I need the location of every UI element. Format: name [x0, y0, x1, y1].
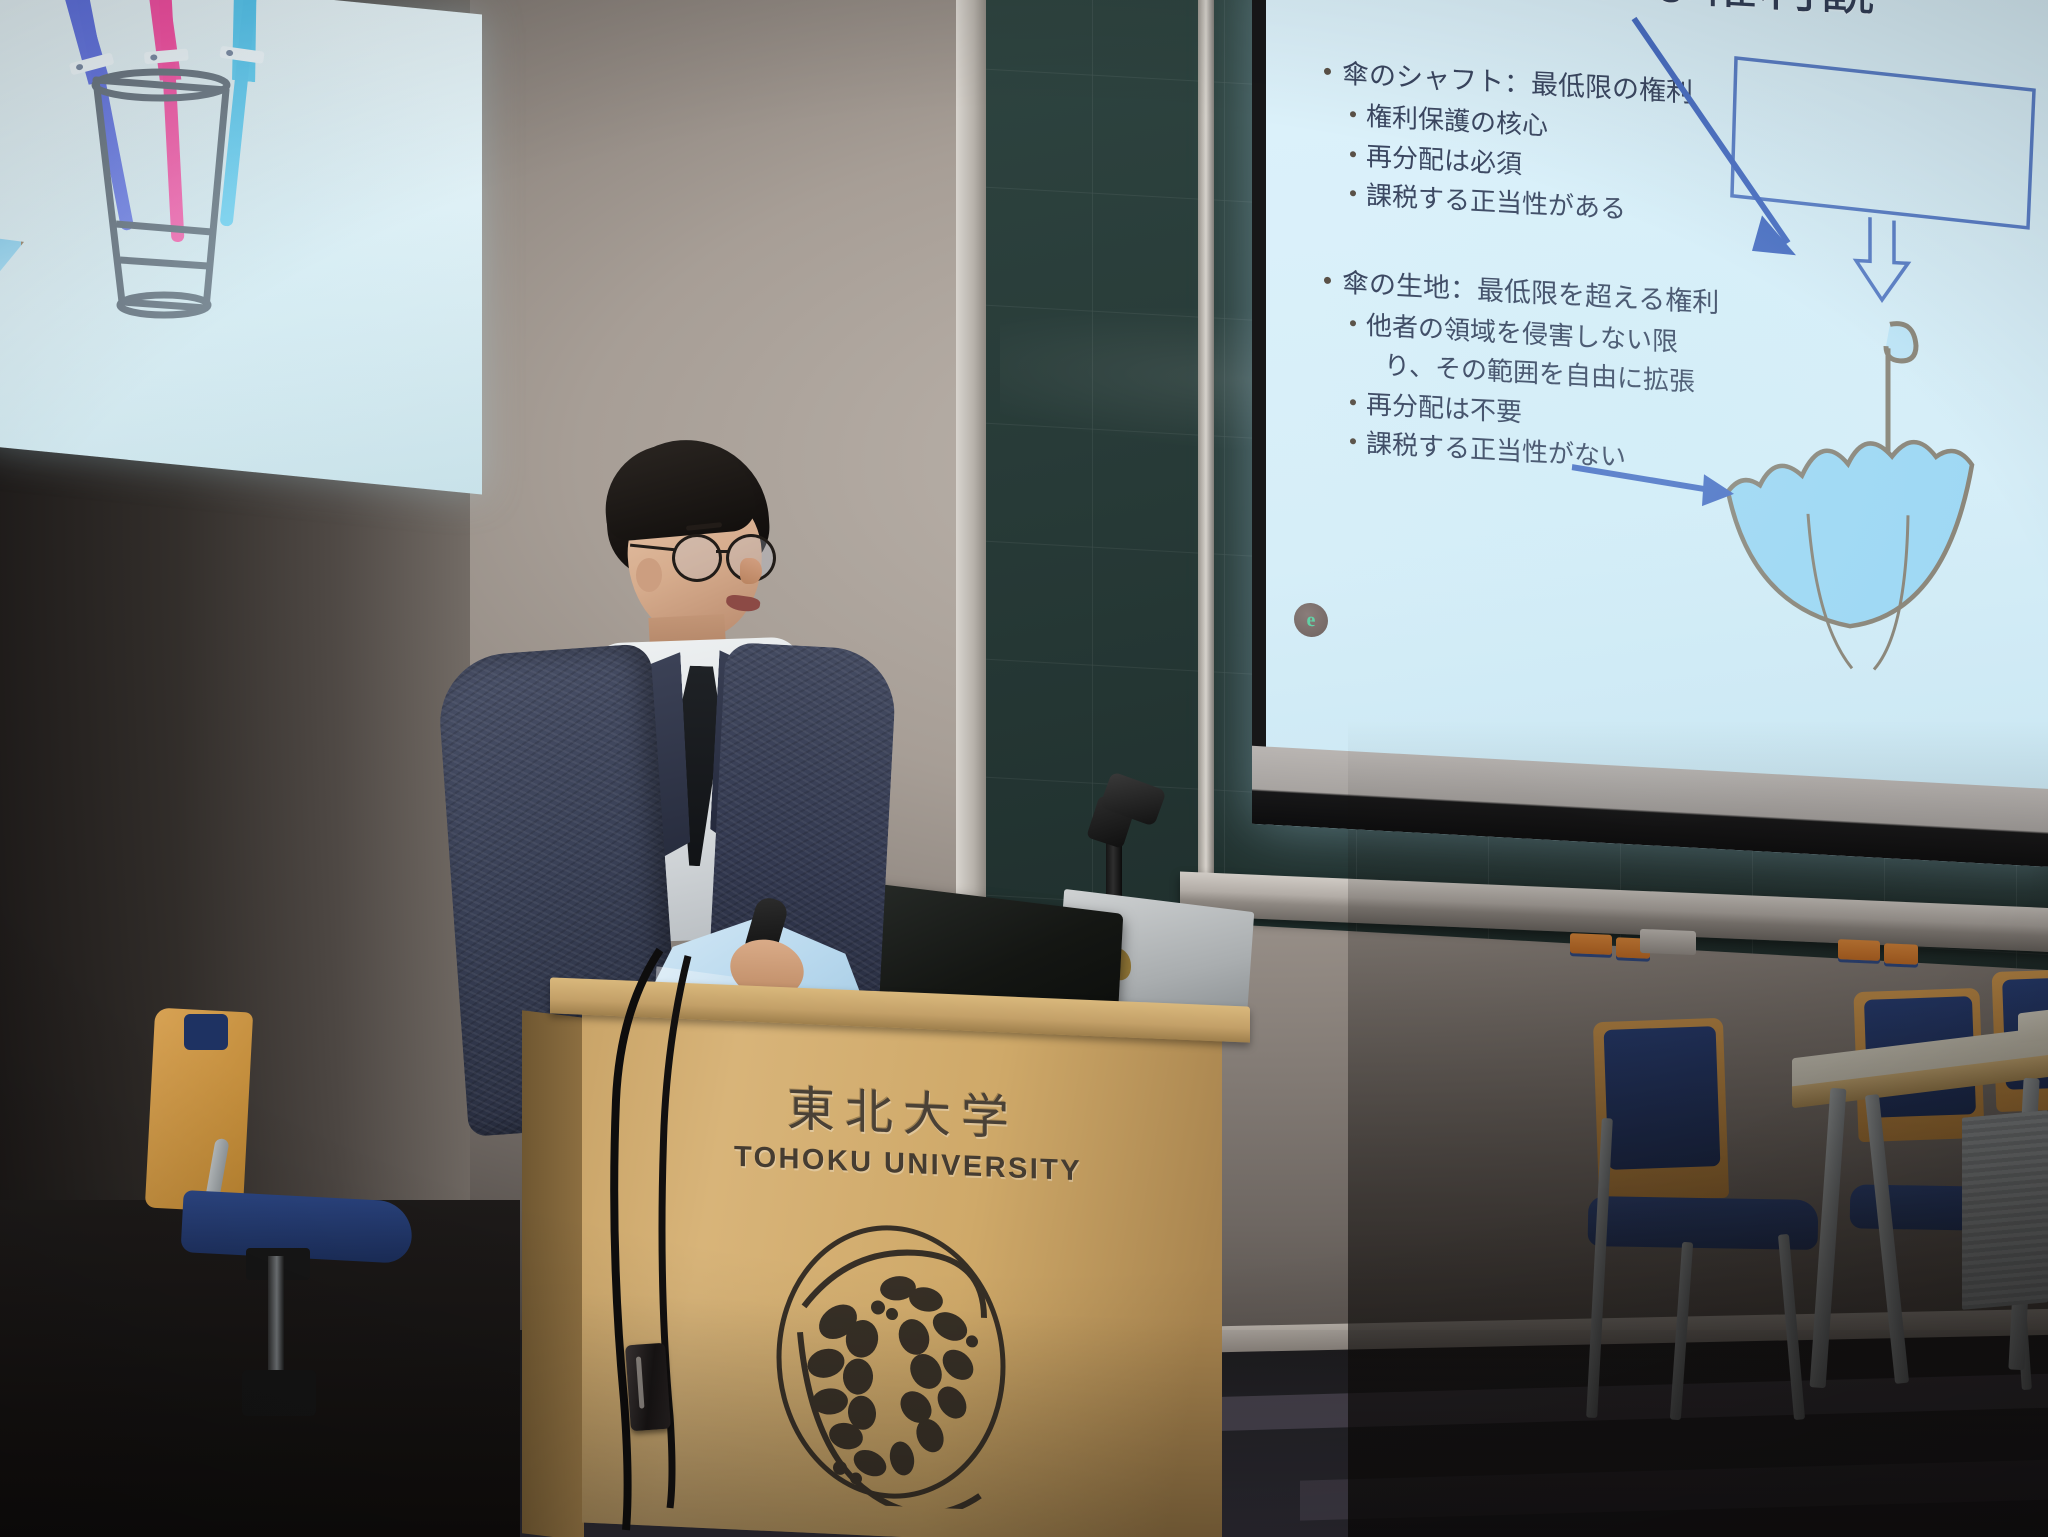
partial-umbrella-shape	[0, 232, 24, 294]
chair-backrest-pad	[184, 1014, 228, 1050]
chalkboard-frame-left	[956, 0, 986, 961]
tohoku-university-crest-icon	[766, 1213, 1016, 1511]
inline-power-adapter	[625, 1343, 671, 1432]
bullet-dot-icon	[1324, 277, 1331, 284]
glasses-bridge	[716, 550, 728, 553]
swivel-chair-left	[150, 1010, 440, 1430]
down-arrow-icon	[1856, 217, 1908, 302]
slide-watermark-icon: e	[1294, 602, 1328, 638]
slide-title: うな権利観	[1582, 0, 2012, 35]
hair-front	[600, 438, 757, 543]
chalkboard-panel-divider	[1198, 0, 1214, 940]
lecture-hall-photo: うな権利観 傘のシャフト：最低限の権利 権利保護の核心 再分配は必須 課税する正…	[0, 0, 2048, 1537]
slide-bullet-list: 傘のシャフト：最低限の権利 権利保護の核心 再分配は必須 課税する正当性がある …	[1324, 54, 1754, 486]
bullet-dot-icon	[1324, 68, 1331, 75]
left-projection-screen	[0, 0, 482, 495]
umbrella-canopy	[1728, 432, 1972, 633]
bullet-dot-icon	[1350, 320, 1356, 326]
chair-base	[242, 1370, 316, 1416]
left-slide-content	[0, 0, 482, 464]
lens-left	[672, 534, 722, 582]
room-right-shadow	[1348, 720, 2048, 1537]
power-cables	[540, 960, 800, 1537]
right-slide-content: うな権利観 傘のシャフト：最低限の権利 権利保護の核心 再分配は必須 課税する正…	[1252, 0, 2048, 788]
bullet-dot-icon	[1350, 151, 1356, 157]
diagram-box	[1732, 58, 2034, 228]
bullet-dot-icon	[1350, 439, 1356, 445]
nose	[740, 558, 762, 584]
eyeglasses-icon	[672, 534, 782, 578]
bullet-dot-icon	[1350, 112, 1356, 118]
slide-diagram	[1722, 39, 2048, 717]
umbrella-stand	[82, 64, 240, 326]
ear	[636, 558, 662, 592]
bullet-dot-icon	[1350, 399, 1356, 405]
chair-gas-column	[268, 1256, 284, 1376]
bullet-dot-icon	[1350, 190, 1356, 196]
